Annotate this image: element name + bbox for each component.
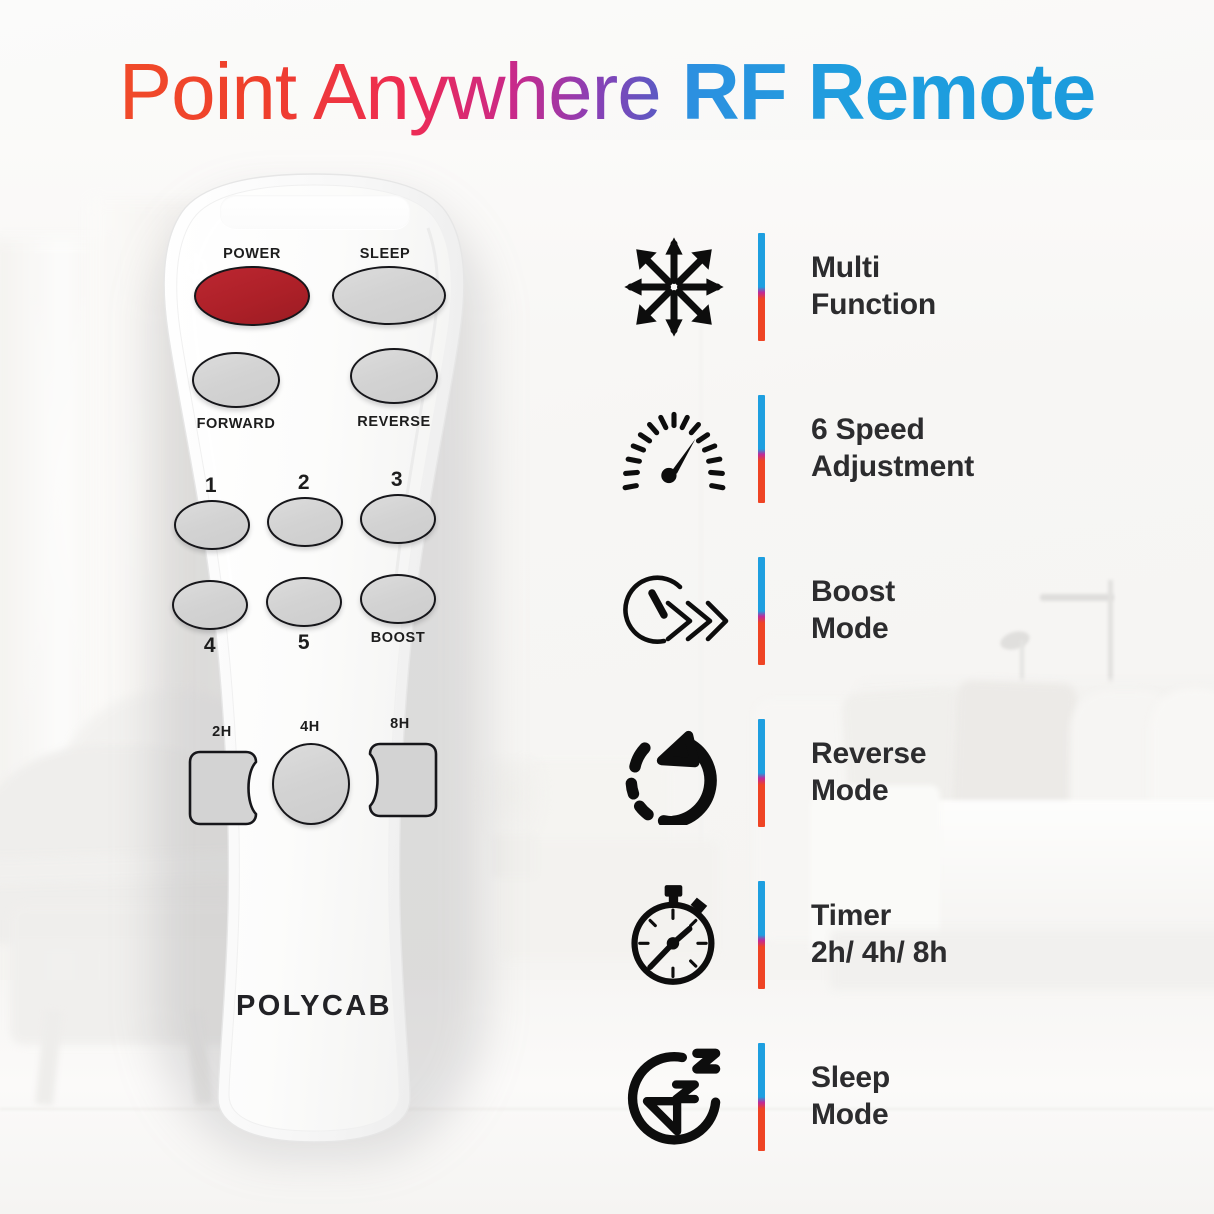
speed-1-button[interactable] bbox=[174, 500, 250, 550]
multi-direction-arrows-icon bbox=[608, 233, 740, 341]
key-label-boost: BOOST bbox=[356, 630, 440, 646]
stopwatch-icon bbox=[608, 881, 740, 989]
key-label-timer-4h: 4H bbox=[278, 719, 342, 735]
key-label-speed1: 1 bbox=[174, 474, 248, 498]
sleep-moon-zzz-icon bbox=[608, 1047, 740, 1147]
feature-divider-bar bbox=[758, 233, 765, 341]
reverse-button[interactable] bbox=[350, 348, 438, 404]
feature-label-line1: Boost bbox=[811, 574, 895, 611]
feature-label-line2: Function bbox=[811, 287, 936, 324]
key-label-speed2: 2 bbox=[267, 471, 341, 495]
timer-4h-button[interactable] bbox=[272, 743, 350, 825]
rf-remote-control: POWER SLEEP FORWARD REVERSE 1 bbox=[128, 168, 518, 1168]
feature-divider-bar bbox=[758, 719, 765, 827]
feature-label-timer: Timer 2h/ 4h/ 8h bbox=[811, 898, 947, 971]
feature-label-line1: Timer bbox=[811, 898, 947, 935]
product-feature-poster: Point Anywhere RF Remote bbox=[0, 0, 1214, 1214]
feature-label-reverse-mode: Reverse Mode bbox=[811, 736, 926, 809]
power-button[interactable] bbox=[194, 266, 310, 326]
page-title: Point Anywhere RF Remote bbox=[0, 52, 1214, 132]
page-title-part-2: RF Remote bbox=[682, 47, 1095, 136]
reverse-rotation-icon bbox=[608, 721, 740, 825]
feature-row-boost-mode: Boost Mode bbox=[608, 530, 1148, 692]
remote-housing: POWER SLEEP FORWARD REVERSE 1 bbox=[128, 168, 500, 1148]
forward-button[interactable] bbox=[192, 352, 280, 408]
boost-button[interactable] bbox=[360, 574, 436, 624]
brand-logo: POLYCAB bbox=[128, 990, 500, 1023]
key-label-timer-8h: 8H bbox=[368, 716, 432, 732]
key-label-speed4: 4 bbox=[172, 634, 248, 658]
feature-label-line2: Mode bbox=[811, 773, 926, 810]
feature-label-line1: 6 Speed bbox=[811, 412, 974, 449]
feature-row-6-speed-adjustment: 6 Speed Adjustment bbox=[608, 368, 1148, 530]
power-symbol-icon bbox=[179, 251, 213, 285]
feature-divider-bar bbox=[758, 1043, 765, 1151]
key-label-sleep: SLEEP bbox=[310, 246, 460, 262]
sleep-button[interactable] bbox=[332, 266, 446, 325]
feature-row-multi-function: Multi Function bbox=[608, 206, 1148, 368]
feature-divider-bar bbox=[758, 557, 765, 665]
ir-transmitter-window bbox=[220, 195, 410, 229]
feature-label-sleep-mode: Sleep Mode bbox=[811, 1060, 890, 1133]
feature-divider-bar bbox=[758, 881, 765, 989]
feature-label-line1: Multi bbox=[811, 250, 936, 287]
key-label-speed3: 3 bbox=[360, 468, 434, 492]
feature-row-timer: Timer 2h/ 4h/ 8h bbox=[608, 854, 1148, 1016]
key-label-reverse: REVERSE bbox=[314, 414, 474, 430]
key-label-timer-2h: 2H bbox=[190, 724, 254, 740]
key-label-forward: FORWARD bbox=[156, 416, 316, 432]
boost-chevrons-icon bbox=[608, 563, 740, 659]
feature-row-sleep-mode: Sleep Mode bbox=[608, 1016, 1148, 1178]
feature-label-multi-function: Multi Function bbox=[811, 250, 936, 323]
feature-list: Multi Function bbox=[608, 206, 1148, 1178]
speed-4-button[interactable] bbox=[172, 580, 248, 630]
feature-label-6-speed-adjustment: 6 Speed Adjustment bbox=[811, 412, 974, 485]
feature-label-line2: 2h/ 4h/ 8h bbox=[811, 935, 947, 972]
feature-row-reverse-mode: Reverse Mode bbox=[608, 692, 1148, 854]
speed-5-button[interactable] bbox=[266, 577, 342, 627]
feature-divider-bar bbox=[758, 395, 765, 503]
feature-label-boost-mode: Boost Mode bbox=[811, 574, 895, 647]
speedometer-icon bbox=[608, 399, 740, 499]
page-title-part-1: Point Anywhere bbox=[119, 47, 682, 136]
feature-label-line1: Reverse bbox=[811, 736, 926, 773]
speed-3-button[interactable] bbox=[360, 494, 436, 544]
feature-label-line2: Adjustment bbox=[811, 449, 974, 486]
feature-label-line1: Sleep bbox=[811, 1060, 890, 1097]
feature-label-line2: Mode bbox=[811, 611, 895, 648]
feature-label-line2: Mode bbox=[811, 1097, 890, 1134]
key-label-speed5: 5 bbox=[266, 631, 342, 655]
speed-2-button[interactable] bbox=[267, 497, 343, 547]
